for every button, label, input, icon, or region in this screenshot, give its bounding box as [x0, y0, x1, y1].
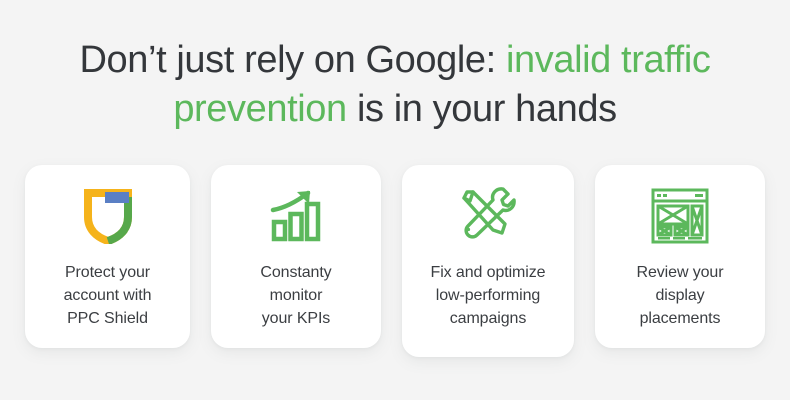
feature-card-label: Review your display placements — [637, 261, 724, 330]
display-placements-wireframe-icon — [650, 185, 710, 247]
headline-part-2: is in your hands — [347, 88, 617, 130]
feature-card-monitor-kpis[interactable]: Constanty monitor your KPIs — [211, 165, 381, 348]
screwdriver-wrench-icon — [459, 185, 517, 247]
feature-card-label: Protect your account with PPC Shield — [64, 261, 152, 330]
bar-chart-growth-icon — [268, 185, 324, 247]
feature-card-list: Protect your account with PPC Shield Con… — [25, 165, 765, 357]
feature-card-fix-campaigns[interactable]: Fix and optimize low-performing campaign… — [402, 165, 574, 357]
headline-part-1: Don’t just rely on Google: — [80, 39, 506, 81]
page-title: Don’t just rely on Google: invalid traff… — [0, 0, 790, 133]
google-shield-icon — [84, 185, 132, 247]
feature-card-label: Constanty monitor your KPIs — [260, 261, 331, 330]
feature-card-label: Fix and optimize low-performing campaign… — [431, 261, 546, 330]
slide-root: Don’t just rely on Google: invalid traff… — [0, 0, 790, 400]
feature-card-ppc-shield[interactable]: Protect your account with PPC Shield — [25, 165, 190, 348]
feature-card-display-placements[interactable]: Review your display placements — [595, 165, 765, 348]
